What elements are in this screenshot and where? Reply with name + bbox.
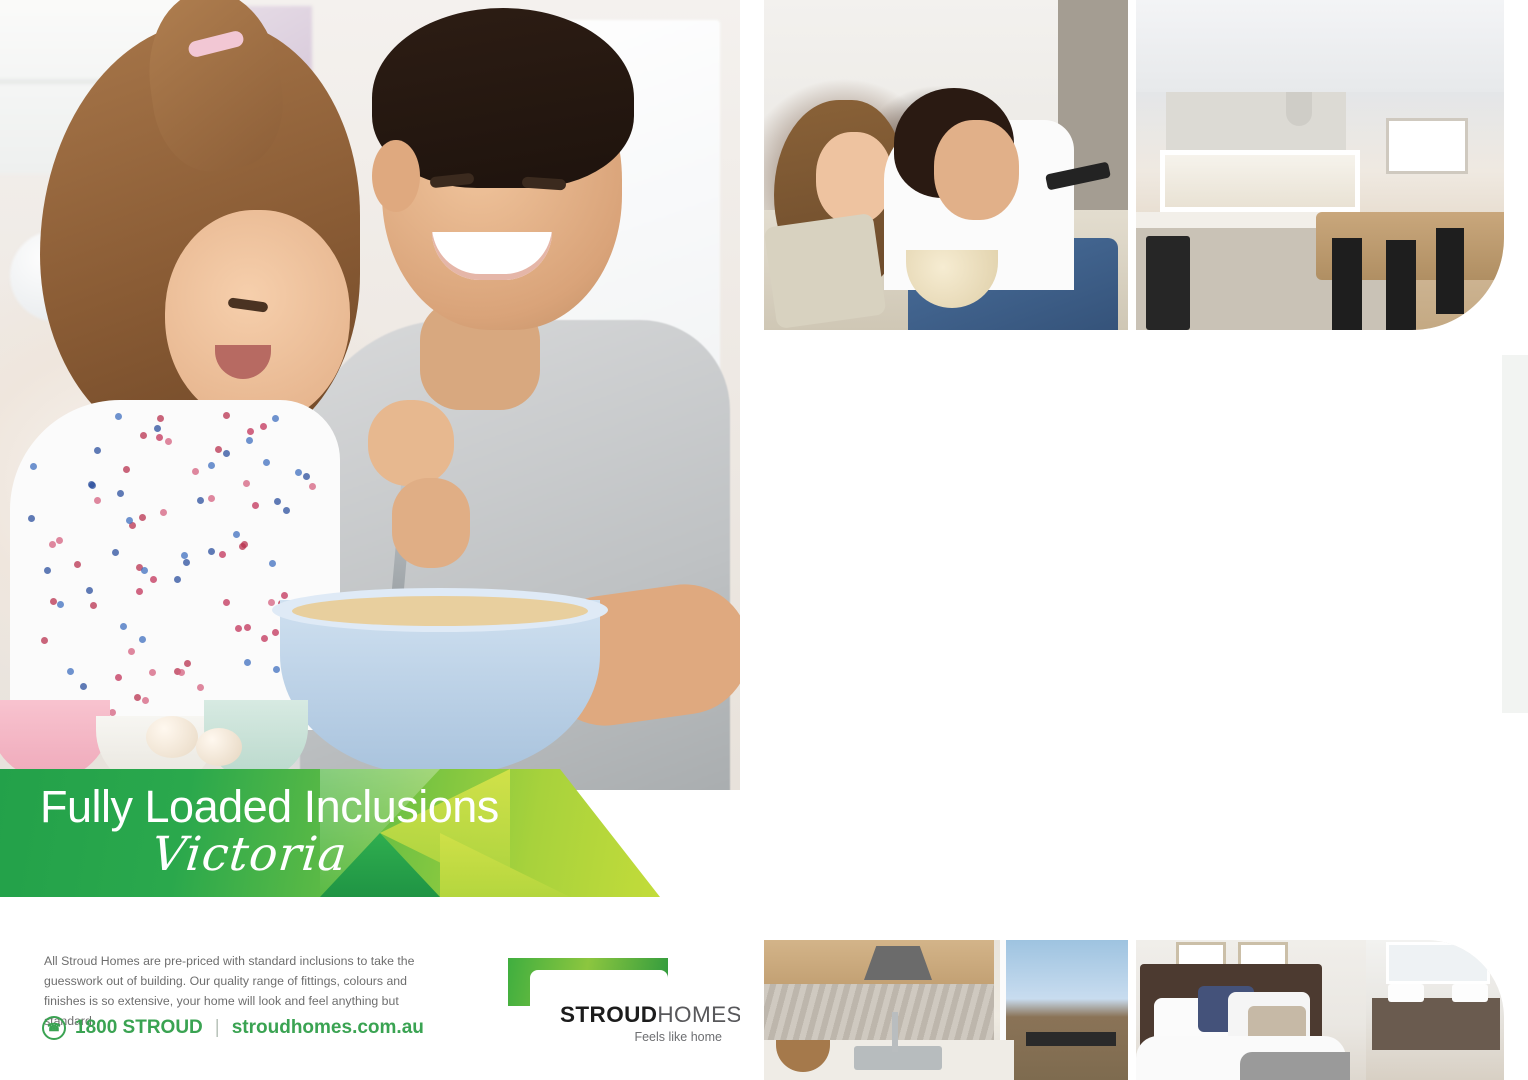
- dress-dot: [150, 576, 157, 583]
- logo-tagline: Feels like home: [634, 1030, 722, 1044]
- dress-dot: [281, 592, 288, 599]
- website-link[interactable]: stroudhomes.com.au: [232, 1017, 424, 1039]
- hero-father-ear: [372, 140, 420, 212]
- dress-dot: [50, 598, 57, 605]
- dress-dot: [178, 669, 185, 676]
- dress-dot: [219, 551, 226, 558]
- photo-kitchen-dining: [1136, 0, 1504, 330]
- dress-dot: [274, 498, 281, 505]
- banner-title: Fully Loaded Inclusions: [40, 781, 499, 833]
- dress-dot: [303, 473, 310, 480]
- dress-dot: [215, 446, 222, 453]
- contact-bar: ☎ 1800 STROUD | stroudhomes.com.au: [42, 1016, 424, 1040]
- dress-dot: [197, 497, 204, 504]
- dress-dot: [149, 669, 156, 676]
- dress-dot: [174, 576, 181, 583]
- dress-dot: [109, 709, 116, 716]
- dress-dot: [244, 624, 251, 631]
- dress-dot: [154, 425, 161, 432]
- right-panel: Highlight Inclusions 900mm stainless ste…: [740, 0, 1528, 1080]
- photo-bedroom-bathroom: [1136, 940, 1504, 1080]
- dress-dot: [269, 560, 276, 567]
- dress-dot: [86, 587, 93, 594]
- logo-mark-icon: [508, 958, 668, 1006]
- contact-separator: |: [215, 1017, 220, 1039]
- hero-egg-two: [196, 728, 242, 766]
- brochure-page: Fully Loaded Inclusions Victoria All Str…: [0, 0, 1528, 1080]
- dress-dot: [94, 447, 101, 454]
- dress-dot: [272, 415, 279, 422]
- dress-dot: [160, 509, 167, 516]
- logo-name-bold: STROUD: [560, 1002, 657, 1027]
- dress-dot: [30, 463, 37, 470]
- dress-dot: [208, 548, 215, 555]
- dress-dot: [273, 666, 280, 673]
- photo-couple-watching-tv: [764, 0, 1128, 330]
- dress-dot: [208, 495, 215, 502]
- title-banner: Fully Loaded Inclusions Victoria: [0, 769, 660, 897]
- dress-dot: [223, 450, 230, 457]
- dress-dot: [183, 559, 190, 566]
- dress-dot: [192, 468, 199, 475]
- dress-dot: [141, 567, 148, 574]
- hero-girl-face: [165, 210, 350, 425]
- dress-dot: [283, 507, 290, 514]
- dress-dot: [239, 543, 246, 550]
- dress-dot: [115, 674, 122, 681]
- dress-dot: [134, 694, 141, 701]
- stroud-homes-logo: STROUDHOMES Feels like home: [508, 958, 722, 1042]
- phone-icon: ☎: [42, 1016, 66, 1040]
- banner-subtitle: Victoria: [149, 827, 350, 882]
- dress-dot: [56, 537, 63, 544]
- dress-dot: [128, 648, 135, 655]
- dress-dot: [272, 629, 279, 636]
- dress-dot: [123, 466, 130, 473]
- dress-dot: [117, 490, 124, 497]
- hero-egg-one: [146, 716, 198, 758]
- dress-dot: [115, 413, 122, 420]
- dress-dot: [223, 412, 230, 419]
- dress-dot: [243, 480, 250, 487]
- phone-number[interactable]: 1800 STROUD: [75, 1017, 203, 1039]
- dress-dot: [233, 531, 240, 538]
- photo-kitchen-alfresco: [764, 940, 1128, 1080]
- dress-dot: [49, 541, 56, 548]
- dress-dot: [181, 552, 188, 559]
- dress-dot: [136, 588, 143, 595]
- hero-girl-hand-upper: [368, 400, 454, 486]
- dress-dot: [184, 660, 191, 667]
- hero-bowl-batter: [292, 596, 588, 626]
- dress-dot: [74, 561, 81, 568]
- dress-dot: [80, 683, 87, 690]
- dress-dot: [89, 482, 96, 489]
- left-panel: Fully Loaded Inclusions Victoria All Str…: [0, 0, 740, 1080]
- hero-image-family-baking: [0, 0, 740, 790]
- dress-dot: [165, 438, 172, 445]
- dress-dot: [90, 602, 97, 609]
- dress-dot: [260, 423, 267, 430]
- dress-dot: [142, 697, 149, 704]
- dress-dot: [94, 497, 101, 504]
- dress-dot: [252, 502, 259, 509]
- dress-dot: [157, 415, 164, 422]
- dress-dot: [126, 517, 133, 524]
- dress-dot: [235, 625, 242, 632]
- dress-dot: [261, 635, 268, 642]
- dress-dot: [244, 659, 251, 666]
- logo-wordmark: STROUDHOMES: [560, 1002, 742, 1028]
- dress-dot: [156, 434, 163, 441]
- dress-dot: [67, 668, 74, 675]
- logo-name-light: HOMES: [657, 1002, 742, 1027]
- dress-dot: [295, 469, 302, 476]
- dress-dot: [120, 623, 127, 630]
- dress-dot: [223, 599, 230, 606]
- dress-dot: [44, 567, 51, 574]
- dress-dot: [112, 549, 119, 556]
- dress-dot: [247, 428, 254, 435]
- dress-dot: [197, 684, 204, 691]
- hero-girl-hand-lower: [392, 478, 470, 568]
- hero-small-bowl-pink: [0, 700, 110, 780]
- dress-dot: [309, 483, 316, 490]
- dress-dot: [139, 514, 146, 521]
- highlight-panel-background: [1502, 355, 1528, 713]
- dress-dot: [139, 636, 146, 643]
- dress-dot: [41, 637, 48, 644]
- dress-dot: [57, 601, 64, 608]
- dress-dot: [263, 459, 270, 466]
- dress-dot: [28, 515, 35, 522]
- dress-dot: [208, 462, 215, 469]
- dress-dot: [140, 432, 147, 439]
- dress-dot: [246, 437, 253, 444]
